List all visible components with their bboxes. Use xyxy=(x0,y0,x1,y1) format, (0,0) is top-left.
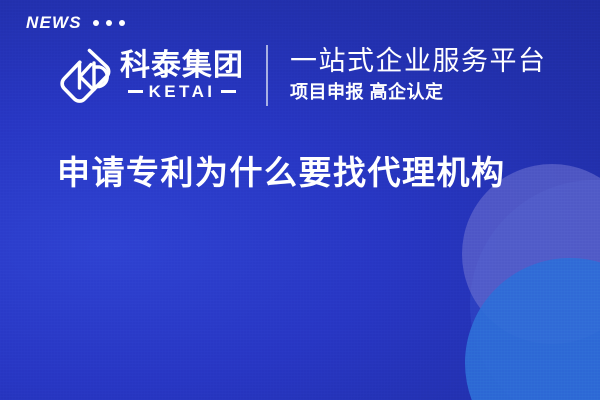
tagline-sub: 项目申报 高企认定 xyxy=(290,82,547,104)
ketai-logo-icon xyxy=(58,44,114,106)
brand-row: 科泰集团 KETAI 一站式企业服务平台 项目申报 高企认定 xyxy=(58,44,547,106)
tagline-main: 一站式企业服务平台 xyxy=(290,46,547,77)
headline: 申请专利为什么要找代理机构 xyxy=(57,152,506,193)
brand-name-en: KETAI xyxy=(149,83,216,100)
eyebrow-row: NEWS xyxy=(26,14,125,31)
vertical-divider xyxy=(266,45,268,106)
news-label: NEWS xyxy=(26,14,82,31)
dots-icon xyxy=(93,19,125,26)
wordmark-rule-left xyxy=(128,90,143,93)
brand-wordmark: 科泰集团 KETAI xyxy=(120,50,244,101)
news-banner: NEWS 科泰集团 xyxy=(0,0,600,400)
brand-name-cn: 科泰集团 xyxy=(120,50,244,82)
brand-name-en-row: KETAI xyxy=(128,83,237,100)
wordmark-rule-right xyxy=(221,90,236,93)
tagline-block: 一站式企业服务平台 项目申报 高企认定 xyxy=(290,46,547,104)
